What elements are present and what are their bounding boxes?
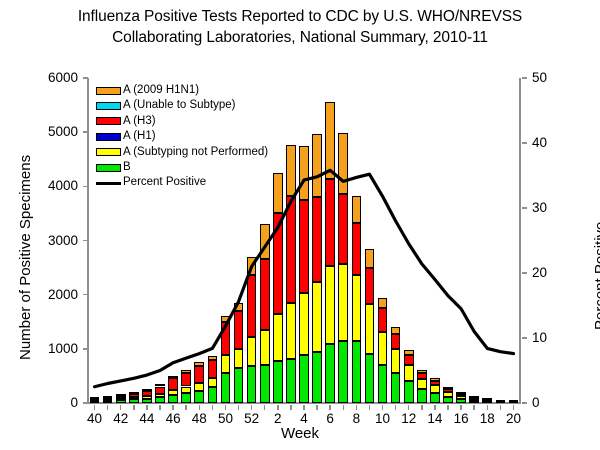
x-axis-title: Week xyxy=(0,425,600,442)
legend-item-label: A (Unable to Subtype) xyxy=(123,100,236,112)
legend-item: A (2009 H1N1) xyxy=(96,83,268,98)
y-axis-right-tick-label: 40 xyxy=(532,136,572,150)
x-axis-tick xyxy=(238,405,240,410)
y-axis-right-tick xyxy=(522,77,527,79)
bar-segment xyxy=(404,355,414,365)
y-axis-left-tick-label: 2000 xyxy=(32,288,78,302)
y-axis-left-tick-label: 6000 xyxy=(32,71,78,85)
x-axis-tick xyxy=(473,405,475,410)
y-axis-right-tick-label: 20 xyxy=(532,266,572,280)
bar-segment xyxy=(247,366,257,403)
bar-segment xyxy=(378,332,388,366)
bar-segment xyxy=(417,370,427,373)
bar-group xyxy=(404,78,414,403)
bar-group xyxy=(365,78,375,403)
bar-segment xyxy=(247,337,257,365)
bar-segment xyxy=(260,365,270,403)
x-axis-tick xyxy=(513,405,515,410)
bar-segment xyxy=(129,399,139,403)
x-axis-tick xyxy=(251,405,253,410)
bar-segment xyxy=(116,400,126,403)
influenza-surveillance-chart: Influenza Positive Tests Reported to CDC… xyxy=(0,0,600,450)
bar-segment xyxy=(299,293,309,356)
x-axis-tick xyxy=(316,405,318,410)
legend-item-label: B xyxy=(123,162,131,174)
x-axis-tick xyxy=(133,405,135,410)
bar-segment xyxy=(286,196,296,303)
bar-segment xyxy=(168,395,178,403)
x-axis-tick xyxy=(356,405,358,410)
bar-segment xyxy=(299,200,309,292)
x-axis-tick xyxy=(434,405,436,410)
bar-segment xyxy=(194,383,204,391)
bar-segment xyxy=(194,366,204,383)
legend-item: A (Unable to Subtype) xyxy=(96,98,268,113)
bar-group xyxy=(430,78,440,403)
bar-segment xyxy=(273,361,283,403)
bar-segment xyxy=(496,400,506,402)
x-axis-tick xyxy=(199,405,201,410)
legend-item: A (H1) xyxy=(96,129,268,144)
bar-segment xyxy=(103,401,113,403)
bar-segment xyxy=(168,376,178,378)
bar-segment xyxy=(391,334,401,350)
bar-segment xyxy=(129,394,139,397)
x-axis-tick xyxy=(94,405,96,410)
bar-segment xyxy=(378,298,388,308)
bar-segment xyxy=(103,396,113,398)
x-axis-tick xyxy=(369,405,371,410)
bar-segment xyxy=(352,223,362,275)
bar-segment xyxy=(129,397,139,399)
bar-segment xyxy=(221,373,231,403)
bar-segment xyxy=(155,387,165,394)
bar-segment xyxy=(430,393,440,403)
bar-segment xyxy=(142,399,152,403)
legend-color-swatch xyxy=(96,148,121,156)
bar-segment xyxy=(443,389,453,392)
bar-group xyxy=(417,78,427,403)
bar-segment xyxy=(509,400,519,402)
y-axis-right-tick xyxy=(522,272,527,274)
bar-segment xyxy=(168,390,178,395)
x-axis-tick xyxy=(343,405,345,410)
bar-segment xyxy=(365,304,375,354)
bar-segment xyxy=(260,259,270,331)
bar-segment xyxy=(208,360,218,378)
bar-segment xyxy=(234,349,244,369)
bar-segment xyxy=(469,396,479,398)
x-axis-tick xyxy=(421,405,423,410)
bar-segment xyxy=(417,373,427,380)
bar-segment xyxy=(404,365,414,381)
bar-segment xyxy=(430,381,440,386)
bar-segment xyxy=(404,381,414,403)
bar-segment xyxy=(338,133,348,194)
bar-segment xyxy=(194,391,204,403)
legend-line-swatch xyxy=(96,182,121,185)
x-axis-tick xyxy=(107,405,109,410)
bar-group xyxy=(482,78,492,403)
bar-segment xyxy=(352,196,362,224)
x-axis-tick xyxy=(159,405,161,410)
bar-segment xyxy=(299,355,309,403)
bar-segment xyxy=(365,268,375,304)
bar-segment xyxy=(286,145,296,196)
y-axis-left-tick-label: 1000 xyxy=(32,342,78,356)
y-axis-right-tick-label: 0 xyxy=(532,396,572,410)
bar-group xyxy=(443,78,453,403)
bar-segment xyxy=(352,341,362,403)
bar-group xyxy=(391,78,401,403)
bar-segment xyxy=(129,392,139,394)
bar-segment xyxy=(142,391,152,396)
bar-segment xyxy=(247,275,257,338)
bar-group xyxy=(299,78,309,403)
bar-segment xyxy=(430,378,440,380)
legend-item-label: Percent Positive xyxy=(123,177,206,189)
bar-segment xyxy=(208,387,218,403)
bar-segment xyxy=(338,341,348,403)
x-axis-tick xyxy=(212,405,214,410)
bar-segment xyxy=(325,266,335,344)
bar-segment xyxy=(456,399,466,403)
y-axis-left-tick-label: 4000 xyxy=(32,179,78,193)
x-axis-tick xyxy=(487,405,489,410)
bar-segment xyxy=(181,370,191,373)
bar-segment xyxy=(338,194,348,264)
x-axis-tick xyxy=(460,405,462,410)
bar-segment xyxy=(155,394,165,398)
bar-segment xyxy=(155,397,165,403)
chart-legend: A (2009 H1N1)A (Unable to Subtype)A (H3)… xyxy=(96,83,268,191)
x-axis-tick xyxy=(120,405,122,410)
bar-segment xyxy=(352,275,362,341)
legend-item: Percent Positive xyxy=(96,175,268,190)
x-axis-tick xyxy=(447,405,449,410)
bar-segment xyxy=(247,257,257,275)
x-axis-tick xyxy=(290,405,292,410)
bar-segment xyxy=(365,249,375,268)
chart-title-line-2: Collaborating Laboratories, National Sum… xyxy=(0,27,600,48)
bar-segment xyxy=(234,368,244,403)
bar-segment xyxy=(312,197,322,282)
bar-segment xyxy=(181,387,191,393)
bar-segment xyxy=(456,392,466,394)
chart-title-line-1: Influenza Positive Tests Reported to CDC… xyxy=(78,8,522,25)
bar-segment xyxy=(391,373,401,403)
bar-segment xyxy=(208,378,218,387)
x-axis-tick xyxy=(382,405,384,410)
y-axis-left-title: Number of Positive Specimens xyxy=(17,155,34,360)
x-axis-tick xyxy=(395,405,397,410)
legend-color-swatch xyxy=(96,102,121,110)
y-axis-right-tick-label: 50 xyxy=(532,71,572,85)
x-axis-tick xyxy=(172,405,174,410)
legend-item: A (H3) xyxy=(96,114,268,129)
legend-color-swatch xyxy=(96,164,121,172)
bar-segment xyxy=(312,134,322,197)
bar-segment xyxy=(312,282,322,352)
x-axis-tick xyxy=(185,405,187,410)
bar-segment xyxy=(208,356,218,360)
bar-segment xyxy=(90,397,100,399)
bar-segment xyxy=(338,264,348,340)
bar-segment xyxy=(181,393,191,403)
bar-segment xyxy=(234,303,244,311)
bar-segment xyxy=(456,394,466,396)
x-axis-tick xyxy=(264,405,266,410)
x-axis-tick xyxy=(500,405,502,410)
bar-segment xyxy=(482,398,492,400)
bar-group xyxy=(273,78,283,403)
legend-color-swatch xyxy=(96,117,121,125)
bar-group xyxy=(469,78,479,403)
bar-group xyxy=(286,78,296,403)
x-axis-tick xyxy=(329,405,331,410)
bar-segment xyxy=(286,359,296,403)
bar-segment xyxy=(365,354,375,403)
bar-segment xyxy=(116,396,126,398)
bar-group xyxy=(325,78,335,403)
bar-segment xyxy=(221,322,231,356)
bar-segment xyxy=(299,146,309,201)
x-axis-tick xyxy=(277,405,279,410)
y-axis-left-tick-label: 5000 xyxy=(32,125,78,139)
bar-segment xyxy=(273,213,283,314)
legend-color-swatch xyxy=(96,133,121,141)
bar-segment xyxy=(404,350,414,355)
bar-segment xyxy=(417,379,427,389)
bar-group xyxy=(456,78,466,403)
legend-item-label: A (2009 H1N1) xyxy=(123,85,199,97)
bar-segment xyxy=(260,224,270,259)
bar-segment xyxy=(430,385,440,393)
bar-segment xyxy=(221,316,231,321)
bar-segment xyxy=(378,308,388,331)
y-axis-left-tick-label: 3000 xyxy=(32,234,78,248)
legend-item: B xyxy=(96,160,268,175)
y-axis-right-tick-label: 10 xyxy=(532,331,572,345)
bar-segment xyxy=(378,365,388,403)
y-axis-right-tick-label: 30 xyxy=(532,201,572,215)
bar-segment xyxy=(168,378,178,389)
x-axis-tick xyxy=(225,405,227,410)
bar-segment xyxy=(325,344,335,403)
legend-item-label: A (Subtyping not Performed) xyxy=(123,147,268,159)
y-axis-right-tick xyxy=(522,337,527,339)
bar-group xyxy=(352,78,362,403)
bar-segment xyxy=(181,373,191,387)
bar-segment xyxy=(142,396,152,399)
legend-item-label: A (H3) xyxy=(123,116,156,128)
x-axis-tick xyxy=(408,405,410,410)
legend-item-label: A (H1) xyxy=(123,131,156,143)
bar-group xyxy=(338,78,348,403)
bar-group xyxy=(509,78,519,403)
bar-segment xyxy=(443,397,453,404)
bar-segment xyxy=(417,389,427,403)
x-axis-tick-label: 20 xyxy=(493,412,533,426)
bar-segment xyxy=(234,311,244,349)
bar-segment xyxy=(312,352,322,403)
bar-segment xyxy=(142,389,152,391)
bar-segment xyxy=(391,327,401,334)
bar-segment xyxy=(273,314,283,361)
x-axis-tick xyxy=(146,405,148,410)
bar-segment xyxy=(260,330,270,365)
legend-color-swatch xyxy=(96,87,121,95)
bar-group xyxy=(312,78,322,403)
legend-item: A (Subtyping not Performed) xyxy=(96,145,268,160)
bar-segment xyxy=(194,362,204,366)
y-axis-right-title: Percent Positive xyxy=(592,222,600,330)
bar-segment xyxy=(286,303,296,358)
bar-segment xyxy=(325,179,335,266)
y-axis-right-tick xyxy=(522,207,527,209)
bar-segment xyxy=(443,387,453,389)
bar-segment xyxy=(325,102,335,179)
bar-group xyxy=(496,78,506,403)
x-axis-tick xyxy=(303,405,305,410)
bar-segment xyxy=(221,355,231,372)
y-axis-left-tick-label: 0 xyxy=(32,396,78,410)
bar-group xyxy=(378,78,388,403)
bar-segment xyxy=(116,398,126,400)
y-axis-right-tick xyxy=(522,402,527,404)
bar-segment xyxy=(456,396,466,399)
y-axis-right-tick xyxy=(522,142,527,144)
bar-segment xyxy=(116,394,126,396)
bar-segment xyxy=(273,173,283,213)
bar-segment xyxy=(155,384,165,386)
chart-title: Influenza Positive Tests Reported to CDC… xyxy=(0,6,600,48)
bar-segment xyxy=(391,349,401,372)
bar-segment xyxy=(443,392,453,397)
bar-segment xyxy=(469,401,479,403)
